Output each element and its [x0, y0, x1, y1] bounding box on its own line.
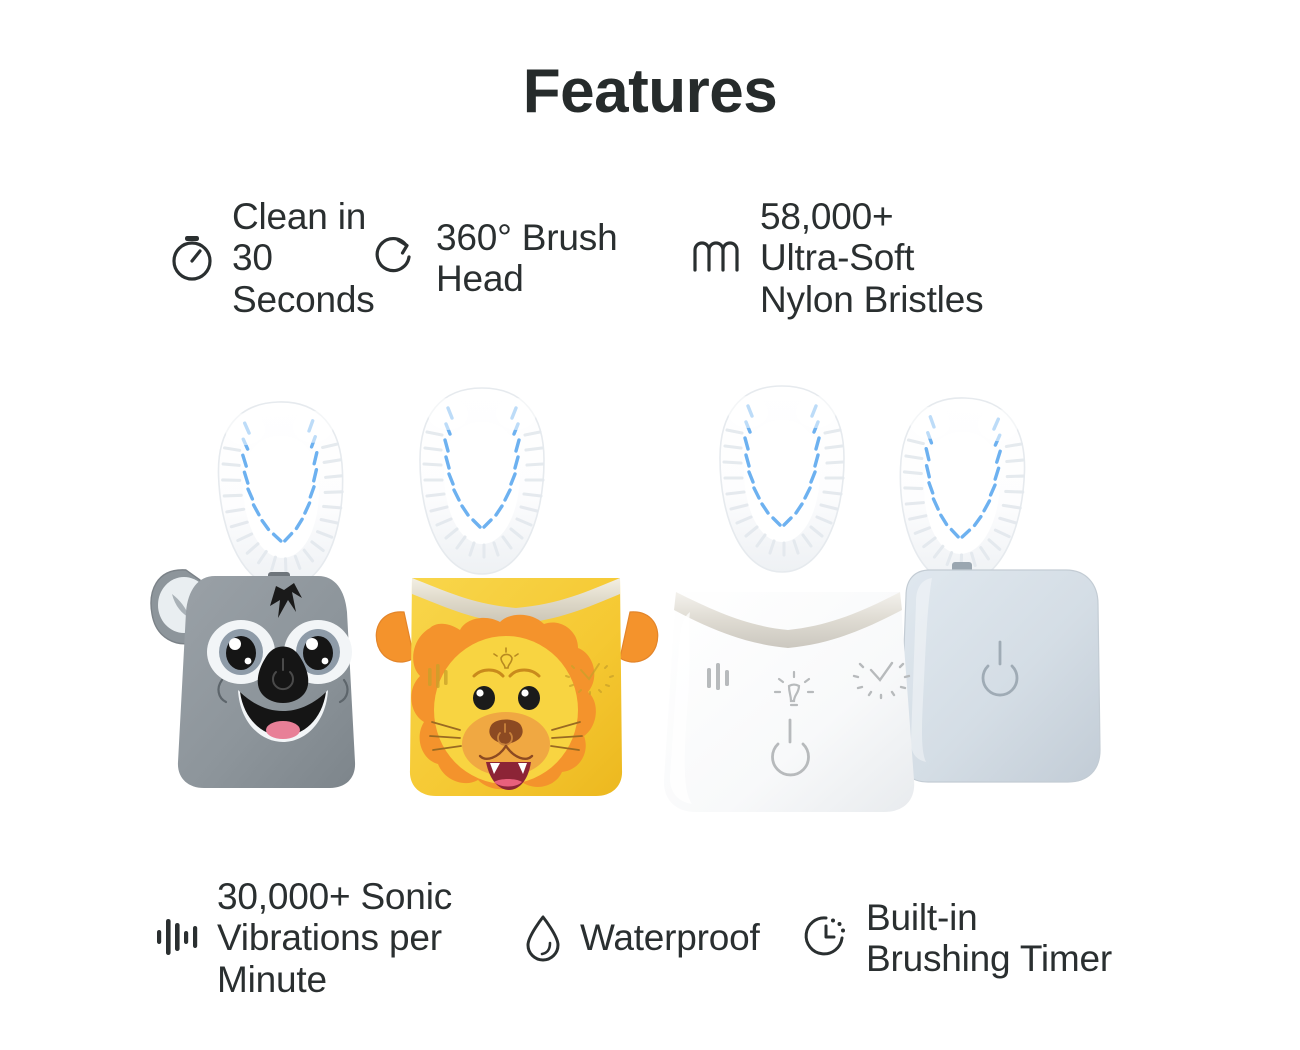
rotate-icon	[374, 230, 420, 287]
product-image	[0, 380, 1300, 850]
device-white	[664, 386, 914, 812]
sound-wave-icon	[153, 910, 201, 967]
feature-label: Built-in Brushing Timer	[866, 897, 1112, 980]
feature-360-brush-head: 360° Brush Head	[360, 196, 690, 320]
bristle-wave-icon	[690, 232, 744, 285]
feature-row-bottom: 30,000+ Sonic Vibrations per Minute Wate…	[0, 876, 1300, 1000]
stopwatch-icon	[168, 228, 216, 289]
feature-row-top: Clean in 30 Seconds 360° Brush Head 58,0…	[0, 196, 1300, 320]
clock-timer-icon	[800, 909, 850, 968]
feature-label: Clean in 30 Seconds	[232, 196, 375, 320]
feature-label: 360° Brush Head	[436, 217, 617, 300]
device-koala	[151, 400, 355, 788]
page-title: Features	[0, 58, 1300, 126]
feature-built-in-brushing-timer: Built-in Brushing Timer	[800, 876, 1300, 1000]
feature-label: 30,000+ Sonic Vibrations per Minute	[217, 876, 452, 1000]
feature-label: 58,000+ Ultra-Soft Nylon Bristles	[760, 196, 983, 320]
device-lion	[376, 388, 657, 796]
feature-sonic-vibrations: 30,000+ Sonic Vibrations per Minute	[0, 876, 500, 1000]
feature-clean-in-30-seconds: Clean in 30 Seconds	[0, 196, 360, 320]
feature-waterproof: Waterproof	[500, 876, 800, 1000]
feature-label: Waterproof	[580, 917, 760, 958]
feature-ultra-soft-nylon-bristles: 58,000+ Ultra-Soft Nylon Bristles	[690, 196, 1300, 320]
device-blue	[897, 396, 1100, 782]
water-drop-icon	[522, 910, 564, 967]
